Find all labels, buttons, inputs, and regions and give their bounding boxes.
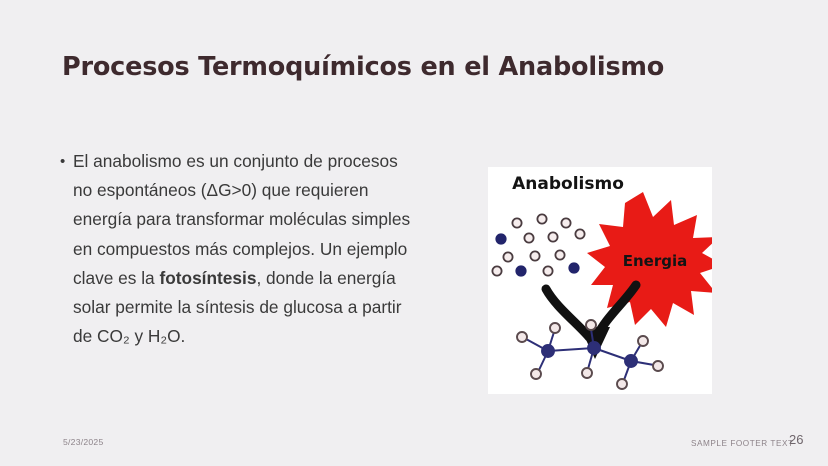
- paragraph-emphasis-fotosintesis: fotosíntesis: [159, 268, 256, 288]
- anabolismo-illustration: Anabolismo Energia: [488, 167, 712, 394]
- list-item: • El anabolismo es un conjunto de proces…: [60, 147, 420, 351]
- content-image-anabolismo: Anabolismo Energia: [488, 167, 712, 394]
- footer-label: SAMPLE FOOTER TEXT: [691, 439, 794, 448]
- bullet-paragraph: El anabolismo es un conjunto de procesos…: [73, 147, 420, 351]
- bullet-glyph-icon: •: [60, 147, 73, 176]
- body-text-block: • El anabolismo es un conjunto de proces…: [60, 147, 420, 351]
- energy-burst-label: Energia: [623, 252, 688, 270]
- footer-date: 5/23/2025: [63, 437, 103, 447]
- page-title: Procesos Termoquímicos en el Anabolismo: [62, 52, 762, 82]
- slide-canvas: Procesos Termoquímicos en el Anabolismo …: [0, 0, 828, 466]
- slide-page-number: 26: [789, 432, 803, 447]
- illustration-caption: Anabolismo: [512, 174, 624, 194]
